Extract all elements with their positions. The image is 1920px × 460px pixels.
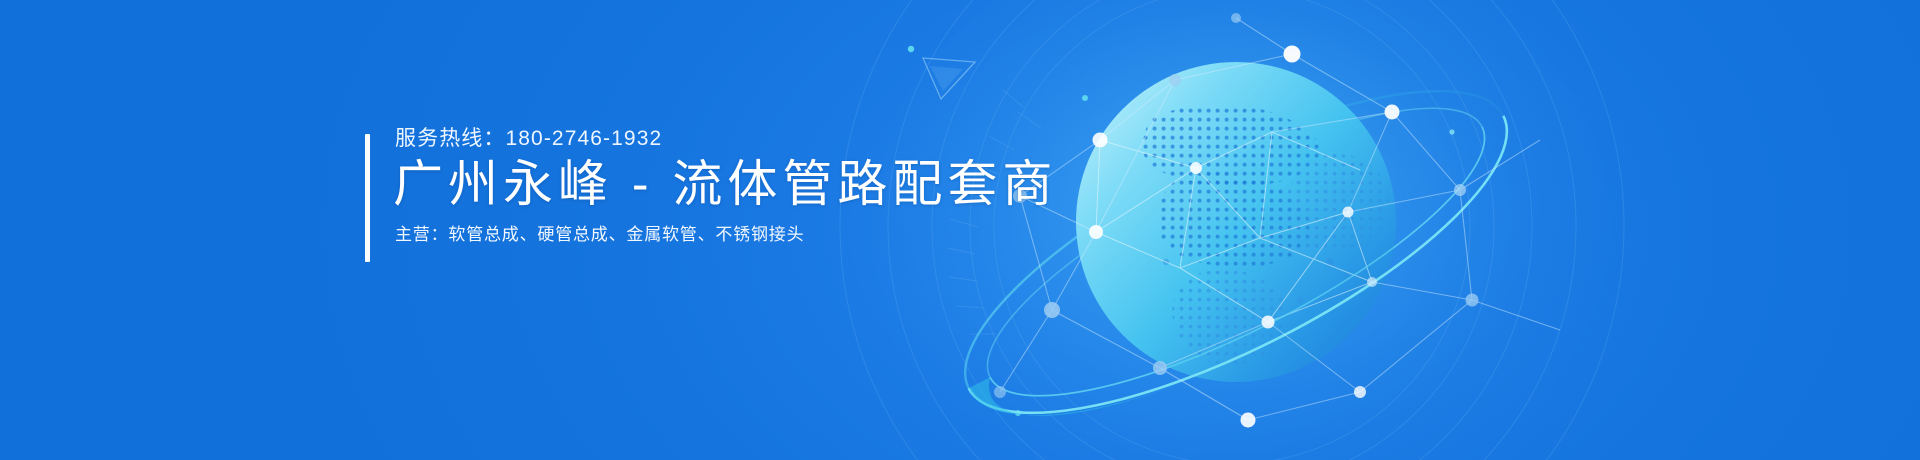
page-title: 广州永峰 - 流体管路配套商 <box>393 155 1057 214</box>
banner-text-block: 服务热线：180-2746-1932 广州永峰 - 流体管路配套商 主营：软管总… <box>365 128 1057 243</box>
hero-banner: 服务热线：180-2746-1932 广州永峰 - 流体管路配套商 主营：软管总… <box>0 0 1920 460</box>
globe-network-graphic <box>1076 62 1396 382</box>
accent-bar <box>365 134 370 262</box>
business-scope-text: 主营：软管总成、硬管总成、金属软管、不锈钢接头 <box>395 226 1057 243</box>
hotline-text: 服务热线：180-2746-1932 <box>395 128 1057 149</box>
